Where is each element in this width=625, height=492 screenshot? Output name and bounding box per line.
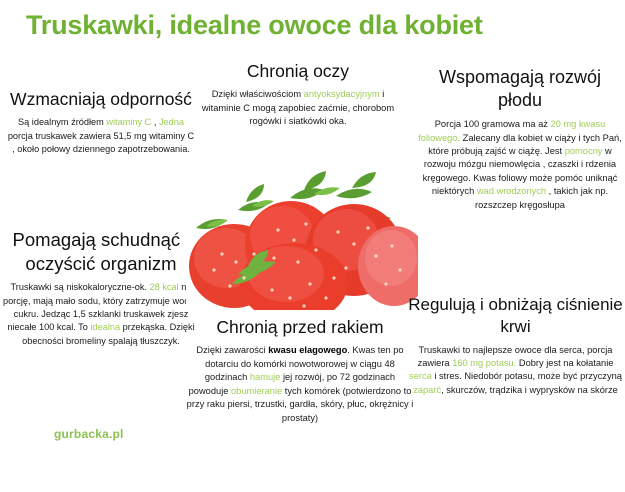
section-eyes: Chronią oczy Dzięki właściwościom antyok… <box>192 60 404 129</box>
strawberries-photo <box>186 158 418 310</box>
section-cancer-heading: Chronią przed rakiem <box>186 316 414 338</box>
section-fetal-development: Wspomagają rozwój płodu Porcja 100 gramo… <box>418 66 622 212</box>
section-immunity-text: Są idealnym źródłem witaminy C , Jedna p… <box>6 116 196 156</box>
section-blood-pressure: Regulują i obniżają ciśnienie krwi Trusk… <box>408 294 623 397</box>
section-immunity-heading: Wzmacniają odporność <box>6 88 196 110</box>
page-title: Truskawki, idealne owoce dla kobiet <box>26 10 596 41</box>
section-eyes-text: Dzięki właściwościom antyoksydacyjnym i … <box>192 88 404 128</box>
section-weight-loss-heading: Pomagają schudnąć i oczyścić organizm <box>2 228 200 275</box>
section-fetal-development-heading: Wspomagają rozwój płodu <box>418 66 622 112</box>
section-blood-pressure-heading: Regulują i obniżają ciśnienie krwi <box>408 294 623 338</box>
section-fetal-development-text: Porcja 100 gramowa ma aż 20 mg kwasu fol… <box>418 118 622 212</box>
section-blood-pressure-text: Truskawki to najlepsze owoce dla serca, … <box>408 344 623 398</box>
section-cancer: Chronią przed rakiem Dzięki zawarości kw… <box>186 316 414 425</box>
infographic-page: Truskawki, idealne owoce dla kobiet Wzma… <box>0 0 625 492</box>
section-weight-loss-text: Truskawki są niskokaloryczne-ok. 28 kcal… <box>2 281 200 348</box>
section-weight-loss: Pomagają schudnąć i oczyścić organizm Tr… <box>2 228 200 348</box>
section-eyes-heading: Chronią oczy <box>192 60 404 82</box>
strawberries-illustration <box>186 158 418 310</box>
section-cancer-text: Dzięki zawarości kwasu elagowego. Kwas t… <box>186 344 414 425</box>
site-watermark: gurbacka.pl <box>54 427 124 441</box>
section-immunity: Wzmacniają odporność Są idealnym źródłem… <box>6 88 196 156</box>
